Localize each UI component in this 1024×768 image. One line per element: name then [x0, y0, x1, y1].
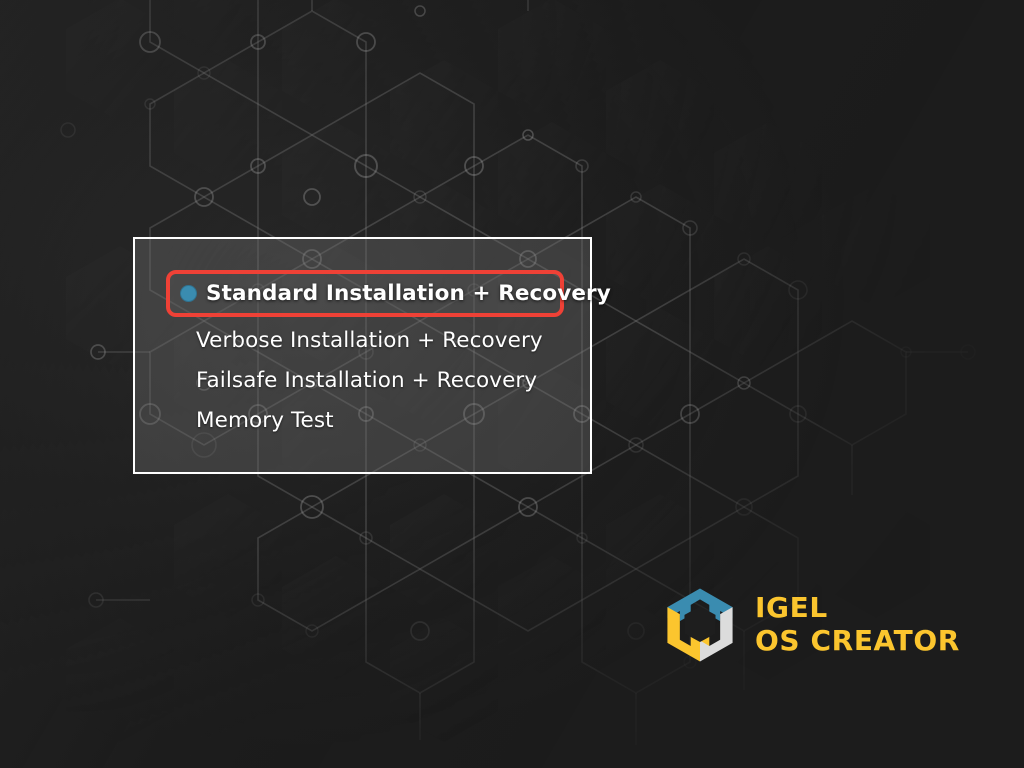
boot-splash-screen: Standard Installation + Recovery Verbose… — [0, 0, 1024, 768]
boot-menu-item-memory-test[interactable]: Memory Test — [196, 401, 334, 441]
brand-product-name: OS CREATOR — [755, 627, 960, 656]
boot-menu-item-label: Standard Installation + Recovery — [206, 283, 611, 305]
boot-menu-item-standard-installation-recovery[interactable]: Standard Installation + Recovery — [166, 270, 564, 317]
brand-name: IGEL — [755, 594, 960, 623]
boot-menu-list: Standard Installation + Recovery Verbose… — [135, 239, 590, 472]
boot-menu-item-label: Memory Test — [196, 410, 334, 432]
boot-menu-item-failsafe-installation-recovery[interactable]: Failsafe Installation + Recovery — [196, 361, 537, 401]
boot-menu-item-verbose-installation-recovery[interactable]: Verbose Installation + Recovery — [196, 321, 543, 361]
igel-hexagon-logo-icon — [661, 587, 739, 663]
brand-lockup: IGEL OS CREATOR — [661, 585, 971, 665]
boot-menu-item-label: Failsafe Installation + Recovery — [196, 370, 537, 392]
boot-menu-panel: Standard Installation + Recovery Verbose… — [133, 237, 592, 474]
selected-bullet-icon — [180, 285, 197, 302]
brand-wordmark: IGEL OS CREATOR — [755, 594, 960, 655]
boot-menu-item-label: Verbose Installation + Recovery — [196, 330, 543, 352]
